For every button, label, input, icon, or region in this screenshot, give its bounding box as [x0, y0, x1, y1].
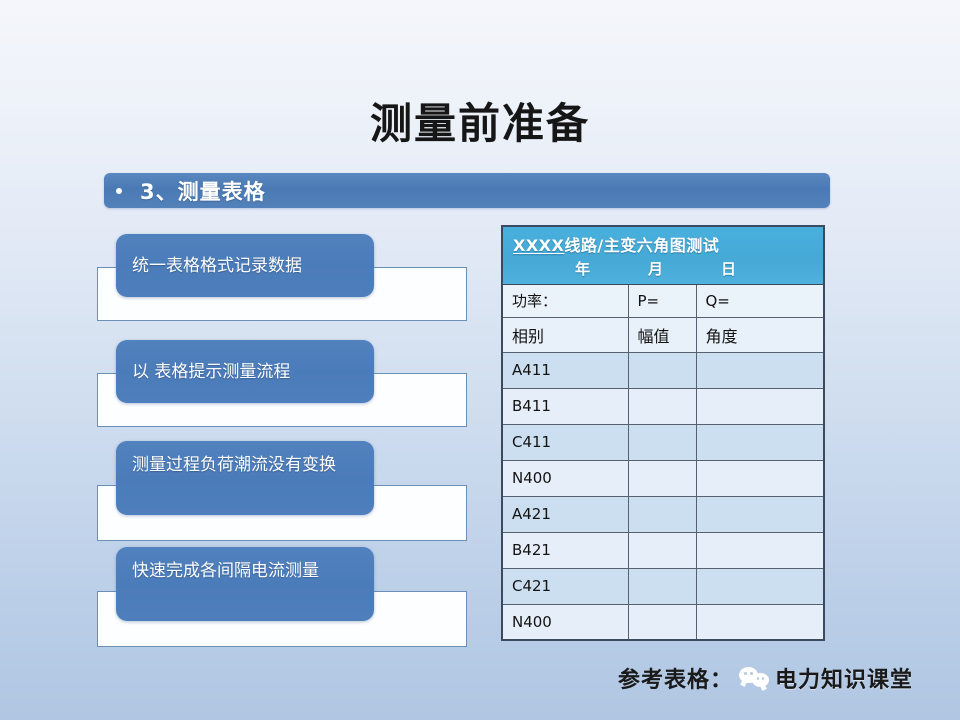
slide-canvas: 测量前准备 3、测量表格 统一表格格式记录数据 以 表格提示测量流程 测量过程负… — [0, 0, 960, 720]
footer-label: 参考表格： — [618, 662, 733, 694]
page-title: 测量前准备 — [0, 90, 960, 151]
table-row-value-cell[interactable] — [696, 460, 824, 496]
table-row-label-cell: 功率： — [502, 284, 628, 317]
measurement-table-body: XXXX线路/主变六角图测试 年 月 日 功率：P=Q=相别幅值角度A411B4… — [502, 226, 824, 640]
table-row-value-cell[interactable] — [696, 568, 824, 604]
table-row-value-cell[interactable]: 角度 — [696, 317, 824, 352]
bullet-block: 统一表格格式记录数据 — [97, 234, 477, 329]
table-row-label-cell: C421 — [502, 568, 628, 604]
table-row-value-cell[interactable] — [628, 388, 696, 424]
bullet-icon — [116, 188, 122, 194]
table-header-title-rest: 线路/主变六角图测试 — [564, 236, 719, 255]
bullet-block-chip[interactable]: 以 表格提示测量流程 — [116, 340, 374, 403]
table-header-row: XXXX线路/主变六角图测试 年 月 日 — [502, 226, 824, 284]
bullet-block-label: 快速完成各间隔电流测量 — [132, 557, 319, 585]
table-row-value-cell[interactable] — [696, 604, 824, 640]
bullet-block-chip[interactable]: 测量过程负荷潮流没有变换 — [116, 441, 374, 515]
wechat-dot — [744, 672, 747, 675]
table-row-value-cell[interactable] — [628, 460, 696, 496]
section-header-bar: 3、测量表格 — [104, 173, 830, 208]
table-header-cell: XXXX线路/主变六角图测试 年 月 日 — [502, 226, 824, 284]
table-header-date-line: 年 月 日 — [513, 258, 813, 279]
table-row-value-cell[interactable] — [696, 532, 824, 568]
table-row-label-cell: B421 — [502, 532, 628, 568]
table-row-value-cell[interactable] — [628, 424, 696, 460]
wechat-icon — [739, 665, 769, 691]
wechat-dot — [750, 672, 753, 675]
table-row-label-cell: A411 — [502, 352, 628, 388]
table-header-inner: XXXX线路/主变六角图测试 年 月 日 — [503, 227, 823, 283]
table-header-title: XXXX线路/主变六角图测试 — [513, 232, 813, 256]
table-row-value-cell[interactable] — [628, 496, 696, 532]
table-row-label-cell: N400 — [502, 460, 628, 496]
table-row: 功率：P=Q= — [502, 284, 824, 317]
table-row: C421 — [502, 568, 824, 604]
table-row: B421 — [502, 532, 824, 568]
bullet-block-label: 测量过程负荷潮流没有变换 — [132, 451, 336, 479]
table-row: N400 — [502, 604, 824, 640]
bullet-block-chip[interactable]: 统一表格格式记录数据 — [116, 234, 374, 297]
table-row: A421 — [502, 496, 824, 532]
date-year-label: 年 — [575, 258, 590, 279]
table-row: A411 — [502, 352, 824, 388]
wechat-bubble-small — [752, 673, 769, 687]
wechat-dot — [757, 677, 760, 680]
measurement-table: XXXX线路/主变六角图测试 年 月 日 功率：P=Q=相别幅值角度A411B4… — [501, 225, 825, 641]
table-header-title-prefix: XXXX — [513, 236, 564, 255]
table-row: B411 — [502, 388, 824, 424]
date-day-label: 日 — [721, 258, 736, 279]
table-row-value-cell[interactable] — [696, 424, 824, 460]
date-month-label: 月 — [648, 258, 663, 279]
table-row-value-cell[interactable] — [628, 352, 696, 388]
bullet-block-label: 以 表格提示测量流程 — [132, 358, 290, 386]
table-row-value-cell[interactable] — [696, 388, 824, 424]
table-row-value-cell[interactable]: 幅值 — [628, 317, 696, 352]
table-row-value-cell[interactable]: P= — [628, 284, 696, 317]
bullet-block: 快速完成各间隔电流测量 — [97, 547, 477, 652]
bullet-block-chip[interactable]: 快速完成各间隔电流测量 — [116, 547, 374, 621]
table-row: N400 — [502, 460, 824, 496]
bullet-block: 测量过程负荷潮流没有变换 — [97, 441, 477, 546]
table-row-value-cell[interactable]: Q= — [696, 284, 824, 317]
bullet-block-label: 统一表格格式记录数据 — [132, 252, 302, 280]
table-row-value-cell[interactable] — [628, 604, 696, 640]
footer: 参考表格： 电力知识课堂 — [618, 662, 913, 694]
section-header-label: 3、测量表格 — [140, 176, 266, 206]
table-row-label-cell: B411 — [502, 388, 628, 424]
table-row: 相别幅值角度 — [502, 317, 824, 352]
table-row-value-cell[interactable] — [696, 352, 824, 388]
footer-account-name: 电力知识课堂 — [775, 662, 913, 694]
table-row-label-cell: N400 — [502, 604, 628, 640]
wechat-dot — [762, 677, 765, 680]
table-row-value-cell[interactable] — [696, 496, 824, 532]
bullet-block: 以 表格提示测量流程 — [97, 340, 477, 435]
table-row-label-cell: 相别 — [502, 317, 628, 352]
table-row-label-cell: A421 — [502, 496, 628, 532]
table-row-value-cell[interactable] — [628, 532, 696, 568]
table-row-value-cell[interactable] — [628, 568, 696, 604]
table-row: C411 — [502, 424, 824, 460]
table-row-label-cell: C411 — [502, 424, 628, 460]
